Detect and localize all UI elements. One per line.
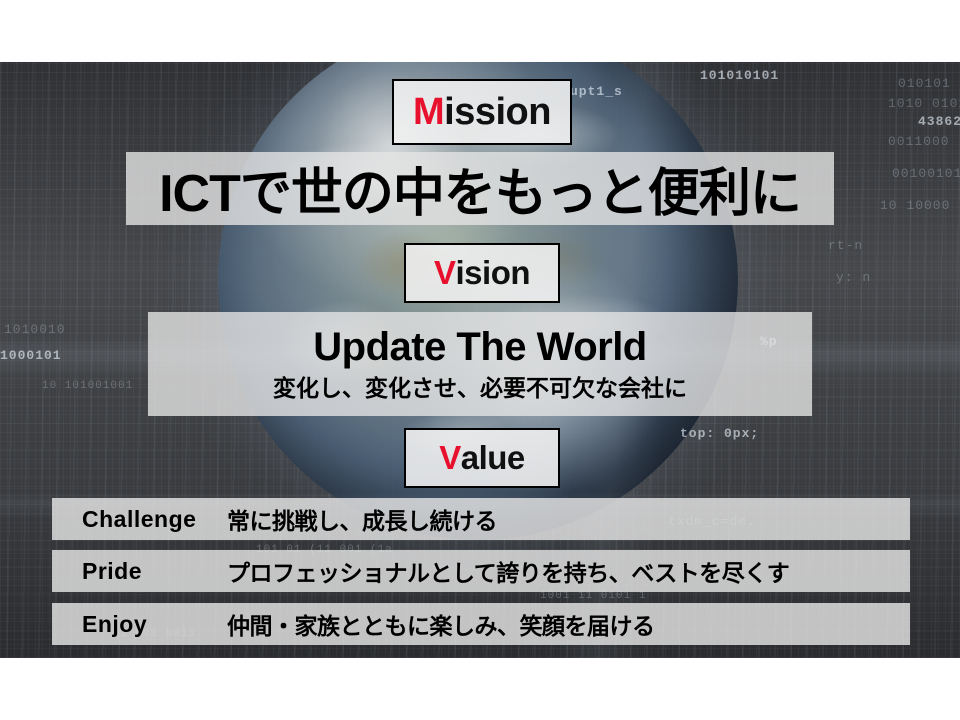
vision-statement-en: Update The World	[313, 326, 646, 368]
background-binary-text: 1010 010101010	[888, 96, 960, 111]
vision-statement-ja: 変化し、変化させ、必要不可欠な会社に	[273, 369, 687, 403]
mission-label-box: Mission	[392, 79, 572, 145]
value-item-row: Pride プロフェッショナルとして誇りを持ち、ベストを尽くす	[52, 550, 910, 592]
value-item-term: Enjoy	[52, 611, 227, 638]
value-label-box: Value	[404, 428, 560, 488]
background-binary-text: 1000101	[0, 348, 62, 363]
value-item-description: 仲間・家族とともに楽しみ、笑顔を届ける	[227, 607, 655, 641]
background-binary-text: 1010010	[4, 322, 66, 337]
background-binary-text: 010101	[898, 76, 951, 91]
background-code-text: top: 0px;	[680, 426, 759, 441]
value-item-term: Pride	[52, 558, 227, 585]
value-label-rest: alue	[461, 439, 525, 477]
value-item-term: Challenge	[52, 506, 227, 533]
background-binary-text: 10 10000	[880, 198, 950, 213]
value-item-row: Enjoy 仲間・家族とともに楽しみ、笑顔を届ける	[52, 603, 910, 645]
vision-label-initial: V	[434, 254, 456, 292]
value-label-initial: V	[439, 439, 461, 477]
vision-label-rest: ision	[456, 254, 531, 292]
vision-statement-band: Update The World 変化し、変化させ、必要不可欠な会社に	[148, 312, 812, 416]
vision-label-box: Vision	[404, 243, 560, 303]
mission-label-initial: M	[413, 91, 444, 134]
value-item-description: 常に挑戦し、成長し続ける	[227, 502, 497, 536]
background-binary-text: 0011000	[888, 134, 950, 149]
value-item-description: プロフェッショナルとして誇りを持ち、ベストを尽くす	[227, 554, 789, 588]
background-code-text: rt-n	[828, 238, 863, 253]
background-binary-text: 101010101	[700, 68, 779, 83]
background-binary-text: 00100101	[892, 166, 960, 181]
background-code-text: y: n	[836, 270, 871, 285]
background-code-text: upt1_s	[570, 84, 623, 99]
background-binary-text: 43862	[918, 114, 960, 129]
mission-statement: ICTで世の中をもっと便利に	[126, 152, 834, 225]
background-binary-text: 10 101001001	[42, 380, 133, 392]
slide-canvas: 101010101 010101 1010 010101010 43862 00…	[0, 0, 960, 720]
mission-label-rest: ission	[444, 91, 551, 134]
value-item-row: Challenge 常に挑戦し、成長し続ける	[52, 498, 910, 540]
